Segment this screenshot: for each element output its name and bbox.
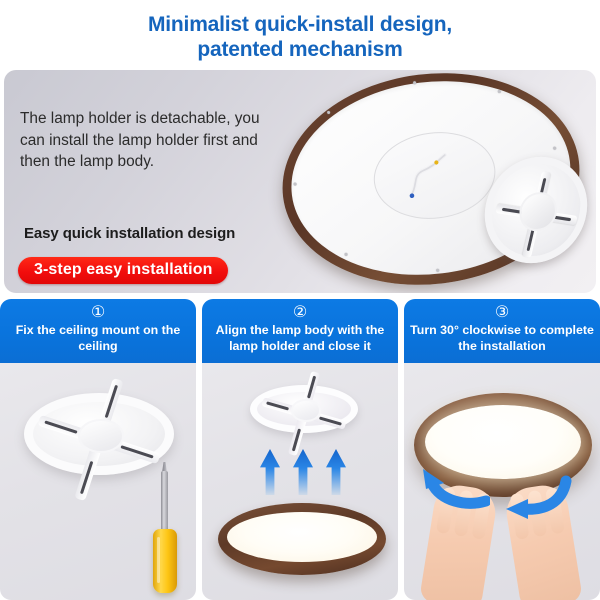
step-3-label: Turn 30° clockwise to complete the insta… [404,322,600,354]
title-line-1: Minimalist quick-install design, [0,12,600,37]
screwdriver-shaft [161,471,168,533]
step-1-photo [0,363,196,600]
step-2-photo [202,363,398,600]
step-2-label: Align the lamp body with the lamp holder… [202,322,398,354]
installation-steps: ① Fix the ceiling mount on the ceiling [0,299,600,600]
ceiling-mount-bracket [24,393,174,475]
step-3-header: ③ Turn 30° clockwise to complete the ins… [404,299,600,363]
hero-subheading: Easy quick installation design [24,225,235,242]
hero-panel: The lamp holder is detachable, you can i… [4,70,596,293]
step-2-number: ② [202,299,398,322]
status-badge: 3-step easy installation [18,257,228,284]
yellow-screwdriver [152,471,178,595]
rotate-arrow-icon [420,463,490,509]
up-arrow-icon [260,449,280,495]
step-1-label: Fix the ceiling mount on the ceiling [0,322,196,354]
title-line-2: patented mechanism [0,37,600,62]
bracket-hub [291,399,321,421]
up-arrow-group [260,449,346,497]
screwdriver-handle [153,529,177,593]
step-3-photo [404,363,600,600]
lamp-diffuser [227,512,377,562]
step-column-1: ① Fix the ceiling mount on the ceiling [0,299,196,600]
hero-description: The lamp holder is detachable, you can i… [20,108,265,173]
bracket-hub [78,419,124,453]
step-2-header: ② Align the lamp body with the lamp hold… [202,299,398,363]
wood-lamp-body [218,503,386,575]
product-infographic: Minimalist quick-install design, patente… [0,0,600,600]
up-arrow-icon [293,449,313,495]
wire-harness-icon [392,145,475,200]
lamp-holder-photo [480,147,593,273]
step-1-header: ① Fix the ceiling mount on the ceiling [0,299,196,363]
ceiling-mount-bracket [250,385,358,433]
step-1-number: ① [0,299,196,322]
step-column-3: ③ Turn 30° clockwise to complete the ins… [404,299,600,600]
rotate-arrow-icon [504,475,574,521]
step-column-2: ② Align the lamp body with the lamp hold… [202,299,398,600]
step-3-number: ③ [404,299,600,322]
up-arrow-icon [326,449,346,495]
page-title: Minimalist quick-install design, patente… [0,12,600,62]
